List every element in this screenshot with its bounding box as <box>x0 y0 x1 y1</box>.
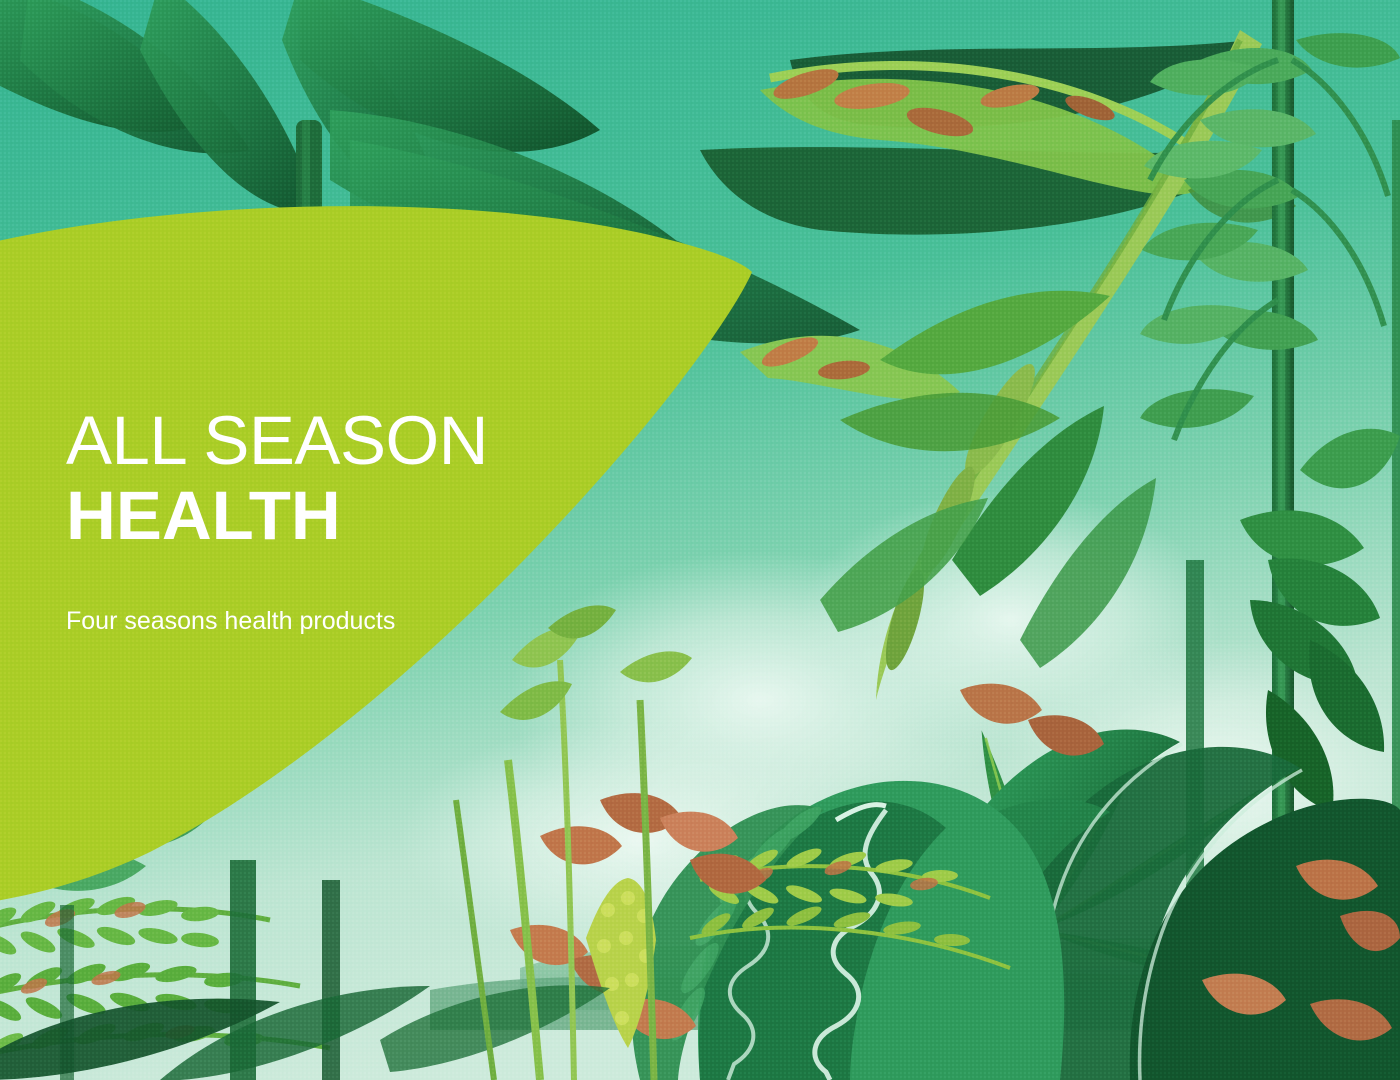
halftone-texture <box>0 0 1400 1080</box>
poster-canvas: ALL SEASON HEALTH Four seasons health pr… <box>0 0 1400 1080</box>
background-illustration <box>0 0 1400 1080</box>
